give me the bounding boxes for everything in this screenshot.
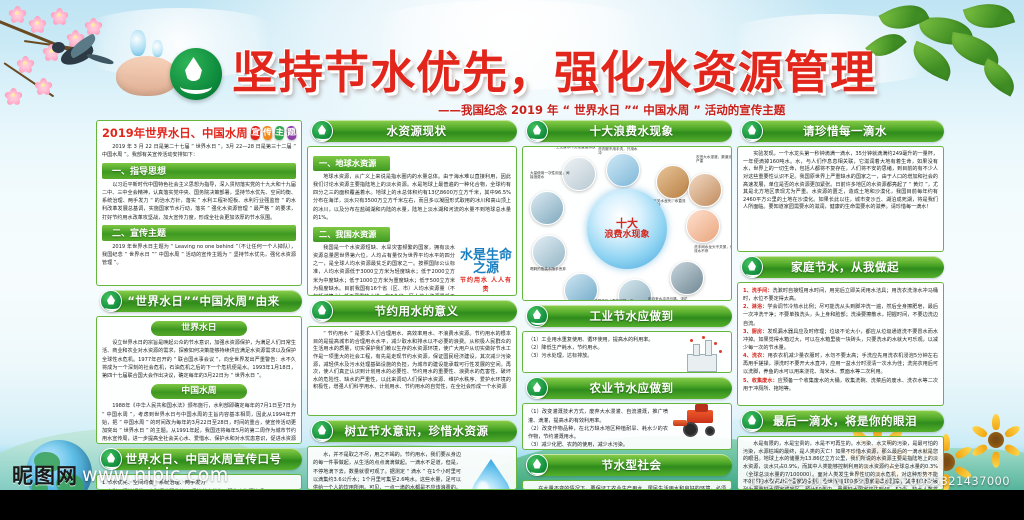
col1-title-row: 2019年世界水日、中国水周 宣 传 主 题 [102,125,296,141]
subheading-guiding-thought-label: 一、指导思想 [112,164,166,177]
waste-bubble-3 [686,209,720,243]
origin-world-water-day-text: 设立世界水日的宗旨是唤起公众的节水意识，加强水资源保护，为满足人们日常生活、商业… [102,339,296,380]
waste-center-line1: 十大 [616,218,638,230]
waste-bubble-8 [530,191,564,225]
bar-row-awareness: 树立节水意识，珍惜水资源 [307,420,517,442]
family-text-2: 学会调节冷热水比例；尽可能洗从头到脚冲洗一遍，然后全身擦肥皂，最后一次冲洗干净；… [743,304,938,326]
col1-intro: 2019 年 3 月 22 日是第二十七届 “ 世界水日 ”，3月 22—28 … [102,143,296,160]
waste-label-3: 洗手间水龙头不关紧，长流水不停 [694,245,732,254]
waste-label-10: 农田大水漫灌，渠道渗漏严重 [696,155,732,164]
col1-title: 2019年世界水日、中国水周 [102,125,248,141]
family-text-1: 洗漱时自接短用水时间，用完后立即关闭用水洁具；用洗衣洗涤水冲马桶时，水位不要定得… [743,288,938,302]
section-bar-agriculture-label: 农业节水应做到 [590,380,674,396]
subheading-china-water: 二、我国水资源 [313,227,390,242]
panel-waste-infographic: 洗衣服不用手洗，只用水冲 洗车不关水龙头，水直流几十分钟 洗手间水龙头不关紧，长… [522,146,732,301]
water-drop-badge-icon [311,420,333,442]
section-bar-family-label: 家庭节水，从我做起 [791,259,899,275]
list-item: 3、厨房：发现漏水器具应及时修理；垃圾不论大小，都应从垃圾通道洗不要冒水而水冲掉… [743,328,938,352]
panel-cherish: 实验发现，一个水龙头第一秒钟滴满一滴水，35分钟就滴满约249毫升的一量杯，一年… [737,146,944,252]
water-drop-badge-icon [526,305,548,327]
section-bar-lasttear-label: 最后一滴水，将是你的眼泪 [773,413,917,429]
water-drop-leaf-logo-icon [170,48,222,100]
watermark-url: www.nipic.com [82,464,229,486]
water-life-source-art: 水是生命之源 节约用水 人人有责 [458,249,514,293]
section-bar-water-status[interactable]: 水资源现状 [316,120,517,142]
poster-header: 坚持节水优先，强化水资源管理 ——我国纪念 2019 年 “ 世界水日 ”“ 中… [0,46,1024,118]
water-drop-badge-icon [741,120,763,142]
content-board: 2019年世界水日、中国水周 宣 传 主 题 2019 年 3 月 22 日是第… [96,120,944,490]
section-bar-meaning[interactable]: 节约用水的意义 [316,300,517,322]
subheading-earth-water: 一、地球水资源 [313,156,390,171]
waste-bubble-5 [618,279,652,301]
page-subtitle: ——我国纪念 2019 年 “ 世界水日 ”“ 中国水周 ” 活动的宣传主题 [438,102,908,118]
list-item: 5、收集废水：应预备一个收集废水的大桶，收集洗碗、洗菜后的废水、洗衣水等二次用于… [743,377,938,393]
waste-center-line2: 浪费水现象 [604,230,649,241]
cherish-text: 实验发现，一个水龙头第一秒钟滴满一滴水，35分钟就滴满约249毫升的一量杯，一年… [743,151,938,212]
cube-zhu: 主 [274,126,285,141]
panel-society: 在水量不变的情况下，要保证工农业生产用水、居民生活用水和良好的环境，必须建立节水… [522,480,732,490]
subheading-earth-water-label: 一、地球水资源 [319,157,376,169]
watermark-cn: 昵图网 [12,460,78,490]
waste-label-7: 喝剩的瓶装水随手丢弃 [530,267,570,271]
waste-label-8: 大量使用一次性用品，间接浪费水 [530,171,570,180]
water-life-source-small: 节约用水 人人有责 [458,275,514,293]
panel-guidance: 2019年世界水日、中国水周 宣 传 主 题 2019 年 3 月 22 日是第… [96,120,302,286]
section-bar-cherish-label: 请珍惜每一滴水 [803,123,887,139]
column-4: 请珍惜每一滴水 实验发现，一个水龙头第一秒钟滴满一滴水，35分钟就滴满约249毫… [737,120,944,490]
column-3: 十大浪费水现象 洗衣服不用手洗，只用水冲 洗车不关水龙头，水直流几十分钟 [522,120,732,490]
waste-bubble-10 [688,173,722,207]
section-bar-meaning-label: 节约用水的意义 [375,303,459,319]
waste-label-5: 洗菜洗碗水直接倒掉，不二次利用 [594,299,634,301]
panel-awareness: 水，并不是取之不尽，用之不竭的。节约用水，我们要从身边的每一件事做起，从生活的点… [307,446,517,490]
panel-water-status: 一、地球水资源 地球水资源，从广义上来说是指水圈内的水量总体。由于海水难以直接利… [307,146,517,296]
poster-canvas: 坚持节水优先，强化水资源管理 ——我国纪念 2019 年 “ 世界水日 ”“ 中… [0,0,1024,520]
bar-row-agriculture: 农业节水应做到 [522,377,732,399]
bar-row-industry: 工业节水应做到 [522,305,732,327]
section-bar-waste[interactable]: 十大浪费水现象 [531,120,732,142]
column-2: 水资源现状 一、地球水资源 地球水资源，从广义上来说是指水圈内的水量总体。由于海… [307,120,517,490]
bar-row-meaning: 节约用水的意义 [307,300,517,322]
subheading-theme: 二、宣传主题 [102,225,296,241]
section-bar-industry-label: 工业节水应做到 [590,308,674,324]
bar-row-origin: “世界水日”“中国水周”由来 [96,290,302,312]
bar-row-family: 家庭节水，从我做起 [737,256,944,278]
section-bar-lasttear[interactable]: 最后一滴水，将是你的眼泪 [746,410,944,432]
section-bar-society-label: 节水型社会 [602,457,662,473]
water-drop-badge-icon [311,120,333,142]
section-bar-industry[interactable]: 工业节水应做到 [531,305,732,327]
panel-agriculture: （1）改变灌溉技术方式，废弃大水漫灌、自流灌溉，推广喷灌、滴灌，提高水的有效利用… [522,403,732,450]
family-text-4: 用衣衣机减少量衣服时，水勿不要太高；手洗应先用洗衣机浸泡5分钟左右再用手搓揉，漂… [743,353,938,375]
family-key-3: 3、厨房： [743,329,767,335]
waste-bubble-1 [606,153,640,187]
site-watermark: 昵图网 www.nipic.com [12,460,229,490]
family-key-5: 5、收集废水： [743,378,778,384]
section-bar-agriculture[interactable]: 农业节水应做到 [531,377,732,399]
capsule-china-water-week: 中国水周 [151,384,247,399]
subheading-china-water-label: 二、我国水资源 [319,228,376,240]
capsule-world-water-day: 世界水日 [151,321,247,336]
waste-label-9: 工业废水不处理直接排放 [556,146,596,149]
water-drop-badge-icon [526,454,548,476]
water-drop-badge-icon [311,300,333,322]
waste-bubble-7 [532,235,566,269]
section-bar-origin-label: “世界水日”“中国水周”由来 [127,293,279,309]
cube-chuan: 传 [262,126,273,141]
panel-meaning: “ 节约用水 ” 是要求人们合理用水、高效率用水、不浪费水资源。节约用水的根本目… [307,326,517,416]
bar-row-water-status: 水资源现状 [307,120,517,142]
family-key-2: 2、淋浴： [743,304,767,310]
factory-icon [681,336,727,374]
section-bar-cherish[interactable]: 请珍惜每一滴水 [746,120,944,142]
bar-row-cherish: 请珍惜每一滴水 [737,120,944,142]
earth-water-text: 地球水资源，从广义上来说是指水圈内的水量总体。由于海水难以直接利用，因此我们讨论… [313,173,511,223]
water-droplet-graphic-icon [468,459,514,490]
waste-bubble-2 [656,165,690,199]
section-bar-origin[interactable]: “世界水日”“中国水周”由来 [105,290,302,312]
col1-theme-text: 2019 年世界水日主题为 “ Leaving no one behind ”（… [102,243,296,268]
tractor-icon [673,406,729,440]
water-drop-badge-icon [526,377,548,399]
waste-label-4: 用自来水冲洗马路、浇花坛、洗车 [648,297,688,301]
bar-row-waste: 十大浪费水现象 [522,120,732,142]
waste-label-1: 洗衣服不用手洗，只用水冲 [598,147,638,156]
waste-bubble-4 [670,261,704,295]
section-bar-water-status-label: 水资源现状 [387,123,447,139]
section-bar-society[interactable]: 节水型社会 [531,454,732,476]
col1-guiding-text: 以习近平新时代中国特色社会主义思想为指导，深入贯彻落实党的十九大和十九届二中、三… [102,181,296,222]
subheading-theme-label: 二、宣传主题 [112,226,166,239]
cube-ti: 题 [286,126,297,141]
origin-china-water-week-text: 1988年《中华人民共和国水法》颁布施行，水利部即确定每年的7月1日至7日为 “… [102,402,296,444]
family-text-3: 发现漏水器具应及时修理；垃圾不论大小，都应从垃圾通道洗不要冒水而水冲掉。如果觉得… [743,329,938,351]
family-list: 1、洗手间：洗漱时自接短用水时间，用完后立即关闭用水洁具；用洗衣洗涤水冲马桶时，… [743,287,938,393]
waste-center-badge: 十大 浪费水现象 [587,189,667,269]
water-drop-badge-icon [741,410,763,432]
subheading-guiding-thought: 一、指导思想 [102,163,296,179]
family-key-4: 4、洗衣： [743,353,768,359]
agriculture-item-3: （3）减少化肥、农药的使用，减少水污染。 [528,441,726,449]
water-drop-badge-icon [741,256,763,278]
list-item: 4、洗衣：用衣衣机减少量衣服时，水勿不要太高；手洗应先用洗衣机浸泡5分钟左右再用… [743,352,938,376]
list-item: 2、淋浴：学会调节冷热水比例；尽可能洗从头到脚冲洗一遍，然后全身擦肥皂，最后一次… [743,303,938,327]
section-bar-awareness-label: 树立节水意识，珍惜水资源 [345,423,489,439]
water-drop-badge-icon [100,290,122,312]
section-bar-family[interactable]: 家庭节水，从我做起 [746,256,944,278]
panel-origin: 世界水日 设立世界水日的宗旨是唤起公众的节水意识，加强水资源保护，为满足人们日常… [96,316,302,444]
water-drop-badge-icon [526,120,548,142]
cube-xuan: 宣 [250,126,261,141]
section-bar-awareness[interactable]: 树立节水意识，珍惜水资源 [316,420,517,442]
image-id-label: ID:22882802 NO:20190320085321437000 [750,474,1010,488]
meaning-text: “ 节约用水 ” 是要求人们合理用水、高效率用水、不浪费水资源。节约用水的根本目… [313,331,511,392]
bar-row-lasttear: 最后一滴水，将是你的眼泪 [737,410,944,432]
section-bar-waste-label: 十大浪费水现象 [590,123,674,139]
list-item: 1、洗手间：洗漱时自接短用水时间，用完后立即关闭用水洁具；用洗衣洗涤水冲马桶时，… [743,287,938,303]
column-1: 2019年世界水日、中国水周 宣 传 主 题 2019 年 3 月 22 日是第… [96,120,302,490]
family-key-1: 1、洗手间： [743,288,773,294]
bottom-bar [0,490,1024,520]
ten-waste-infographic: 洗衣服不用手洗，只用水冲 洗车不关水龙头，水直流几十分钟 洗手间水龙头不关紧，长… [528,151,726,301]
panel-family: 1、洗手间：洗漱时自接短用水时间，用完后立即关闭用水洁具；用洗衣洗涤水冲马桶时，… [737,282,944,406]
page-title: 坚持节水优先，强化水资源管理 [232,44,892,102]
waste-bubble-6 [564,273,598,301]
panel-industry: （1）工业用水重复使用、循环使用，提高水的利用率。 （2）降低生产耗水，节约用水… [522,331,732,374]
water-life-source-big: 水是生命之源 [458,249,514,275]
bar-row-society: 节水型社会 [522,454,732,476]
